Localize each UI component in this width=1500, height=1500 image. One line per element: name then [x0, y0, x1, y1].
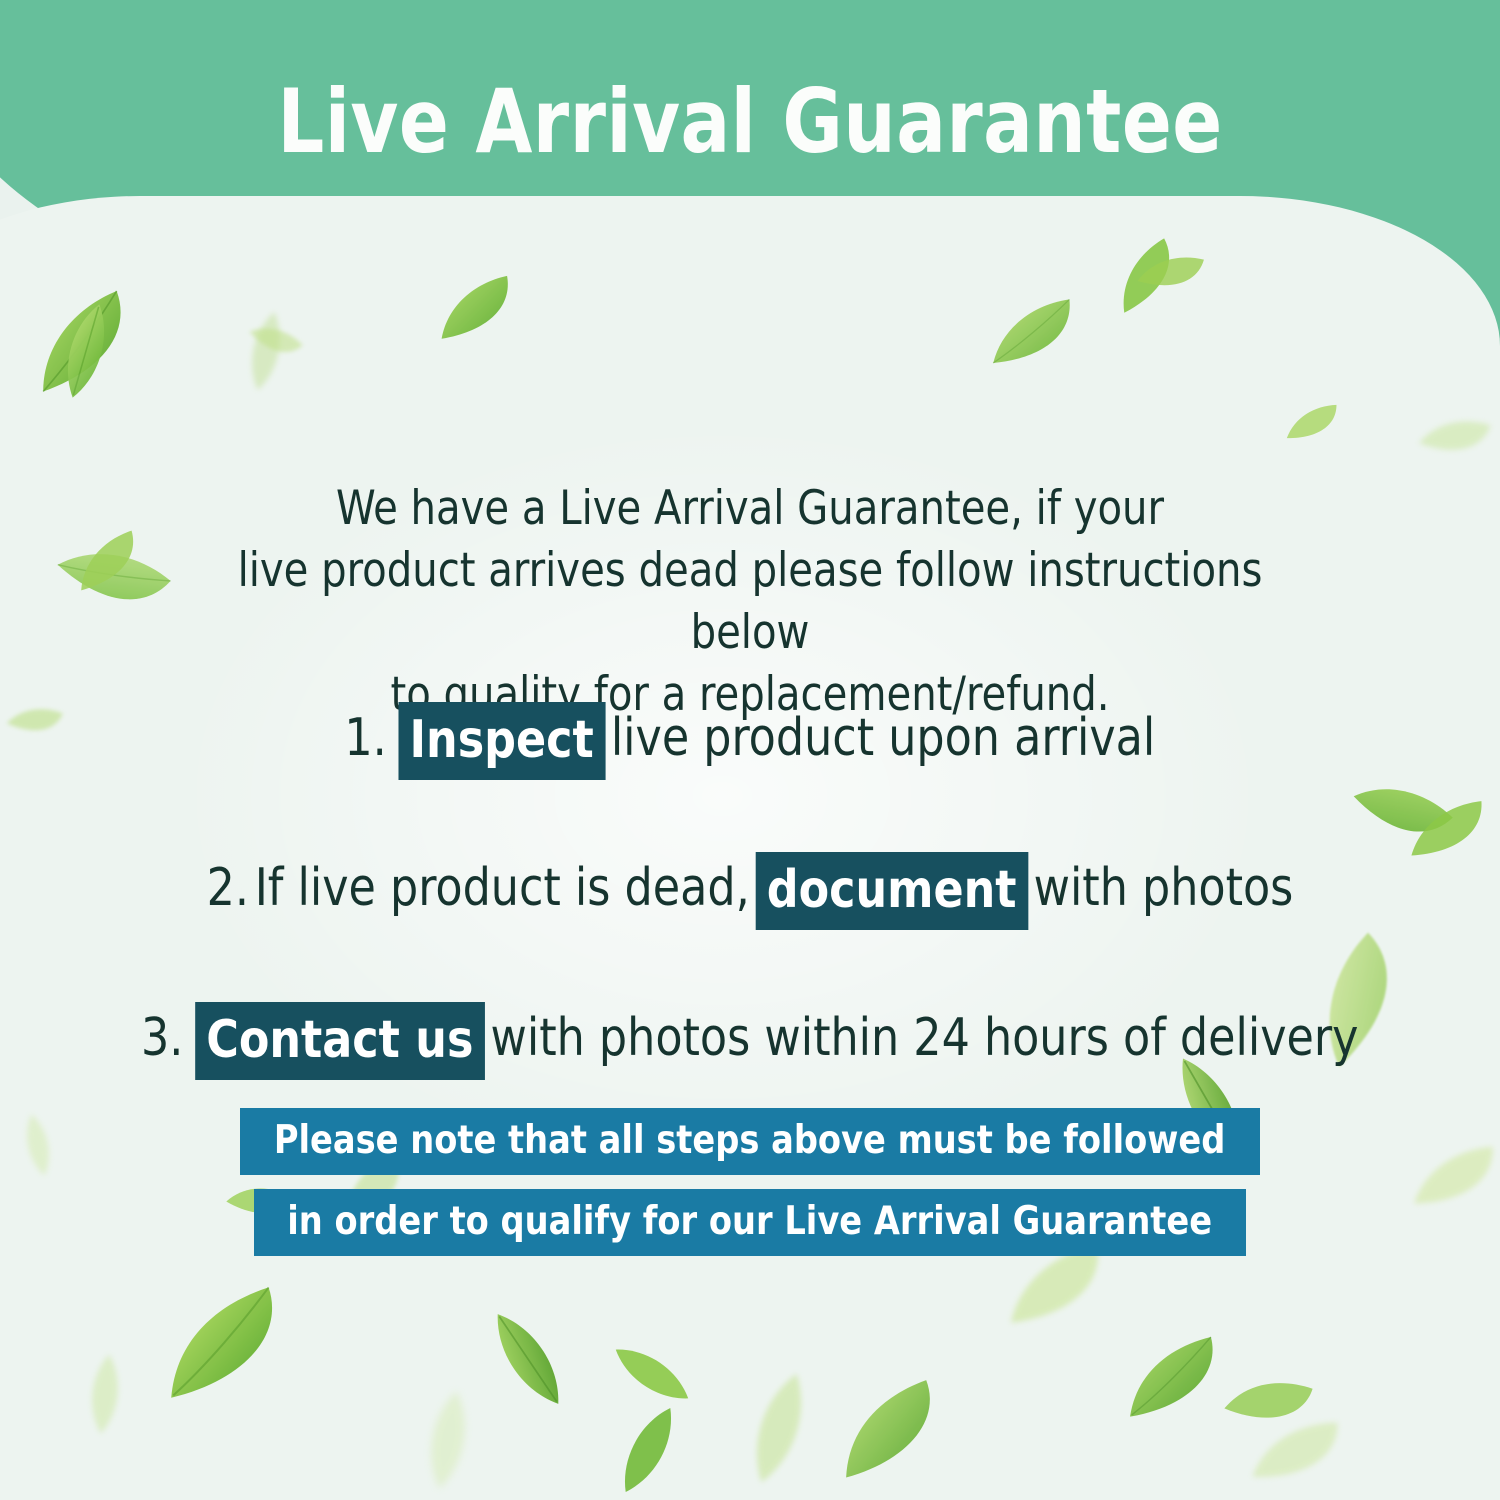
step-number: 1.	[345, 708, 387, 768]
note-line-2-text: in order to qualify for our Live Arrival…	[288, 1202, 1213, 1241]
step-highlight-inspect[interactable]: Inspect	[398, 702, 605, 780]
intro-line-2: live product arrives dead please follow …	[180, 540, 1320, 664]
intro-line-1: We have a Live Arrival Guarantee, if you…	[180, 478, 1320, 540]
page-title: Live Arrival Guarantee	[53, 78, 1448, 166]
step-highlight-contact-us[interactable]: Contact us	[195, 1002, 485, 1080]
note-line-1-text: Please note that all steps above must be…	[274, 1121, 1226, 1160]
note-block: Please note that all steps above must be…	[0, 1108, 1500, 1270]
steps-list: 1.Inspectlive product upon arrival 2.If …	[60, 700, 1440, 1150]
step-text: live product upon arrival	[611, 708, 1155, 768]
step-text-before: If live product is dead,	[255, 858, 750, 918]
step-text: with photos within 24 hours of delivery	[491, 1008, 1359, 1068]
poster-content: Live Arrival Guarantee We have a Live Ar…	[0, 0, 1500, 1500]
note-line-1: Please note that all steps above must be…	[240, 1108, 1259, 1175]
step-number: 2.	[207, 858, 249, 918]
step-item-2: 2.If live product is dead,documentwith p…	[60, 850, 1440, 928]
step-item-1: 1.Inspectlive product upon arrival	[60, 700, 1440, 778]
step-number: 3.	[141, 1008, 183, 1068]
note-line-2: in order to qualify for our Live Arrival…	[254, 1189, 1245, 1256]
live-arrival-guarantee-poster: Live Arrival Guarantee We have a Live Ar…	[0, 0, 1500, 1500]
step-text: with photos	[1034, 858, 1294, 918]
step-item-3: 3.Contact uswith photos within 24 hours …	[60, 1000, 1440, 1078]
intro-paragraph: We have a Live Arrival Guarantee, if you…	[180, 478, 1320, 726]
step-highlight-document[interactable]: document	[755, 852, 1028, 930]
